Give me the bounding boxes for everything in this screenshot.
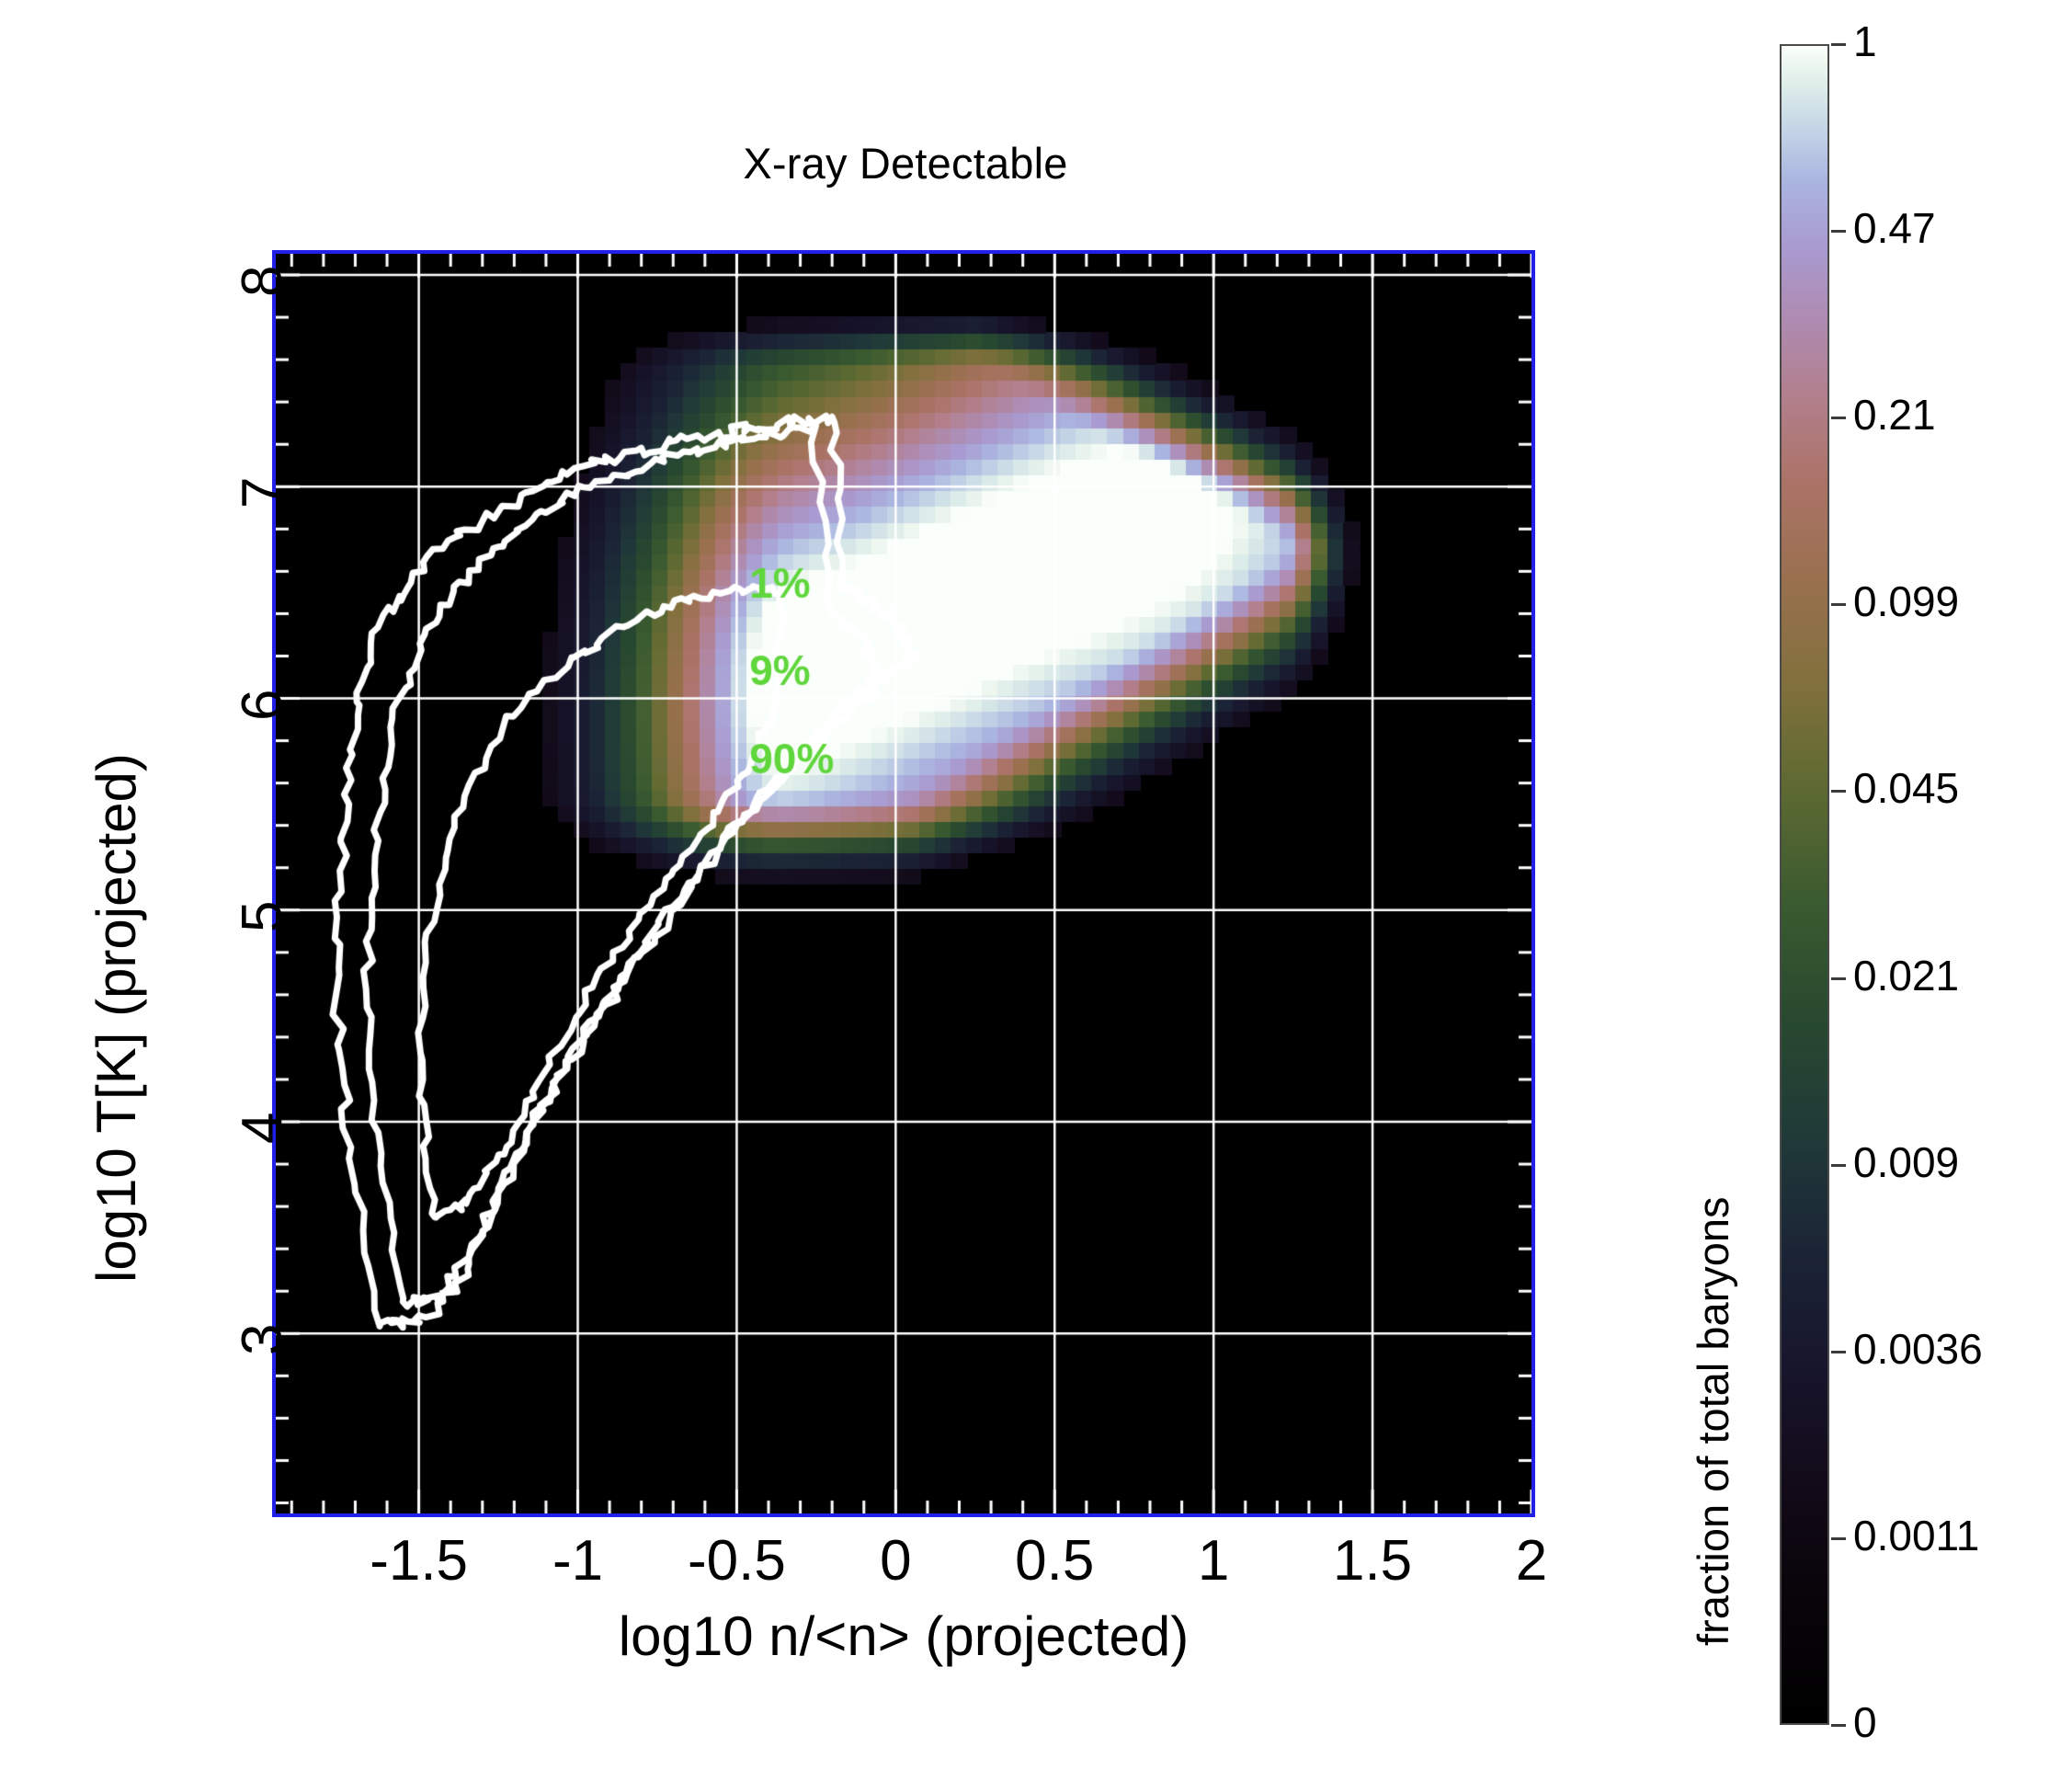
colorbar-tick [1831, 417, 1846, 419]
x-axis-title: log10 n/<n> (projected) [272, 1604, 1535, 1668]
figure-root: X-ray Detectable 876543 -1.5-1-0.500.511… [0, 0, 2072, 1770]
colorbar-tick-label: 0.021 [1853, 951, 1959, 1000]
colorbar-title: fraction of total baryons [1688, 1196, 1738, 1646]
x-tick-label: -1.5 [346, 1528, 493, 1593]
y-tick-label: 7 [230, 477, 295, 508]
plot-area [272, 250, 1535, 1517]
x-tick-label: 0 [822, 1528, 969, 1593]
y-tick-label: 8 [230, 266, 295, 297]
colorbar-tick-label: 0.47 [1853, 203, 1936, 253]
x-tick-label: -0.5 [663, 1528, 810, 1593]
colorbar-tick [1831, 1351, 1846, 1353]
x-tick-label: 0.5 [981, 1528, 1128, 1593]
colorbar-tick-label: 0.009 [1853, 1137, 1959, 1187]
page-title: X-ray Detectable [276, 138, 1535, 188]
colorbar-tick-label: 0.0036 [1853, 1324, 1983, 1374]
colorbar-tick-label: 0.099 [1853, 577, 1959, 626]
colorbar-tick [1831, 1724, 1846, 1727]
colorbar-tick [1831, 603, 1846, 606]
colorbar [1780, 44, 1829, 1725]
colorbar-tick [1831, 230, 1846, 233]
colorbar-tick [1831, 790, 1846, 793]
colorbar-tick-label: 0.21 [1853, 390, 1936, 440]
colorbar-tick-label: 0 [1853, 1697, 1877, 1747]
colorbar-gradient [1780, 44, 1829, 1725]
colorbar-tick [1831, 977, 1846, 980]
colorbar-tick-label: 0.0011 [1853, 1511, 1979, 1560]
x-tick-label: 1.5 [1299, 1528, 1446, 1593]
colorbar-tick [1831, 43, 1846, 46]
x-tick-label: 1 [1140, 1528, 1287, 1593]
colorbar-tick [1831, 1537, 1846, 1540]
x-tick-label: 2 [1458, 1528, 1605, 1593]
y-tick-label: 3 [230, 1324, 295, 1355]
x-tick-label: -1 [505, 1528, 652, 1593]
colorbar-tick [1831, 1164, 1846, 1167]
heatmap-canvas [276, 254, 1531, 1513]
colorbar-canvas [1782, 46, 1827, 1723]
y-axis-title: log10 T[K] (projected) [85, 753, 148, 1283]
y-tick-label: 6 [230, 689, 295, 720]
colorbar-tick-label: 0.045 [1853, 763, 1959, 813]
y-tick-label: 5 [230, 900, 295, 931]
colorbar-tick-label: 1 [1853, 17, 1877, 66]
y-tick-label: 4 [230, 1113, 295, 1144]
